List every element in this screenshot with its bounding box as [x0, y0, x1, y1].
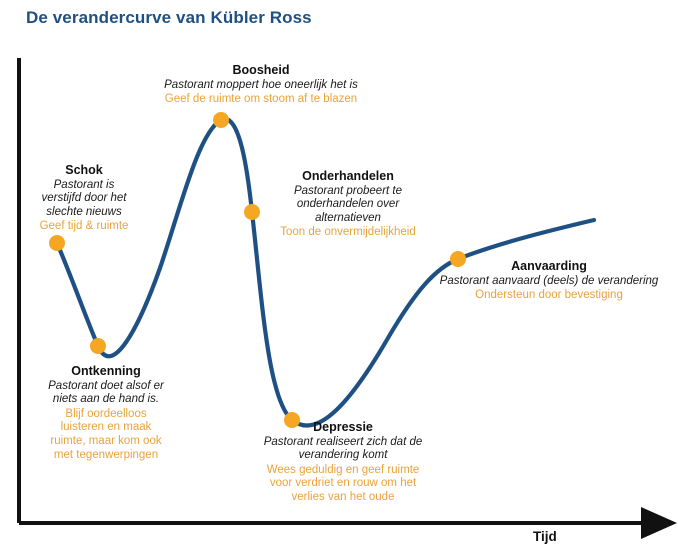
stage-description-ontkenning: Pastorant doet alsof erniets aan de hand… [26, 380, 186, 407]
kubler-ross-change-curve-figure: De verandercurve van Kübler Ross Schok P… [0, 0, 678, 552]
annotation-ontkenning: Ontkenning Pastorant doet alsof erniets … [26, 364, 186, 462]
stage-tip-boosheid: Geef de ruimte om stoom af te blazen [130, 93, 392, 107]
stage-tip-schok: Geef tijd & ruimte [10, 220, 158, 234]
annotation-schok: Schok Pastorant isverstijfd door hetslec… [10, 163, 158, 234]
annotation-aanvaarding: Aanvaarding Pastorant aanvaard (deels) d… [420, 259, 678, 303]
stage-description-depressie: Pastorant realiseert zich dat deverander… [245, 436, 441, 463]
stage-title-ontkenning: Ontkenning [26, 364, 186, 379]
stage-title-schok: Schok [10, 163, 158, 178]
stage-tip-aanvaarding: Ondersteun door bevestiging [420, 289, 678, 303]
stage-title-onderhandelen: Onderhandelen [259, 169, 437, 184]
stage-title-depressie: Depressie [245, 420, 441, 435]
stage-title-aanvaarding: Aanvaarding [420, 259, 678, 274]
stage-dot-onderhandelen[interactable] [244, 204, 260, 220]
stage-dot-ontkenning[interactable] [90, 338, 106, 354]
x-axis-label: Tijd [533, 529, 557, 544]
stage-title-boosheid: Boosheid [130, 63, 392, 78]
stage-description-onderhandelen: Pastorant probeert teonderhandelen overa… [259, 185, 437, 226]
annotation-depressie: Depressie Pastorant realiseert zich dat … [245, 420, 441, 505]
annotation-onderhandelen: Onderhandelen Pastorant probeert teonder… [259, 169, 437, 240]
stage-description-schok: Pastorant isverstijfd door hetslechte ni… [10, 179, 158, 220]
stage-dot-schok[interactable] [49, 235, 65, 251]
stage-description-aanvaarding: Pastorant aanvaard (deels) de veranderin… [420, 275, 678, 289]
stage-description-boosheid: Pastorant moppert hoe oneerlijk het is [130, 79, 392, 93]
stage-tip-depressie: Wees geduldig en geef ruimtevoor verdrie… [245, 464, 441, 505]
annotation-boosheid: Boosheid Pastorant moppert hoe oneerlijk… [130, 63, 392, 107]
stage-tip-onderhandelen: Toon de onvermijdelijkheid [259, 226, 437, 240]
stage-tip-ontkenning: Blijf oordeelloosluisteren en maakruimte… [26, 408, 186, 462]
stage-dot-boosheid[interactable] [213, 112, 229, 128]
